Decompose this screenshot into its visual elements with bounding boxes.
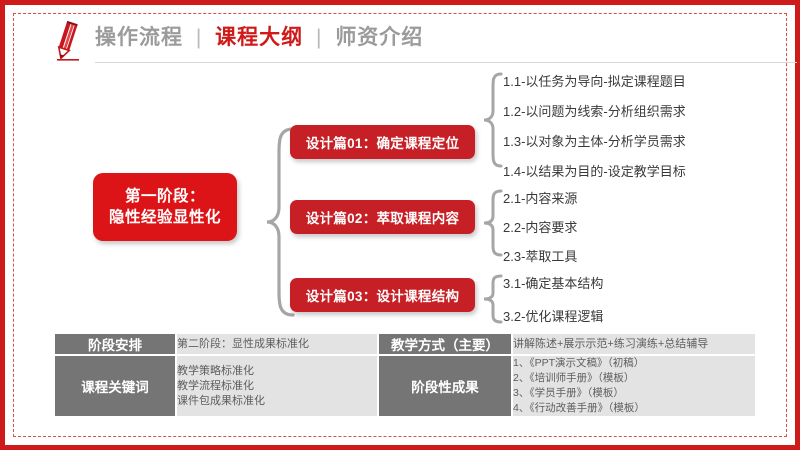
branch-node-2-label: 设计篇02：萃取课程内容 bbox=[306, 207, 460, 227]
table-row: 阶段安排 第二阶段：显性成果标准化 教学方式（主要） 讲解陈述+展示示范+练习演… bbox=[55, 334, 755, 354]
branch-node-1[interactable]: 设计篇01：确定课程定位 bbox=[290, 125, 475, 159]
leaf-item: 1.3-以对象为主体-分析学员需求 bbox=[503, 135, 686, 149]
cell-stage-arrangement-value: 第二阶段：显性成果标准化 bbox=[177, 334, 377, 354]
root-node-line2: 隐性经验显性化 bbox=[109, 207, 221, 228]
leaf-item: 2.3-萃取工具 bbox=[503, 250, 577, 264]
summary-table: 阶段安排 第二阶段：显性成果标准化 教学方式（主要） 讲解陈述+展示示范+练习演… bbox=[53, 332, 757, 418]
slide-canvas: 操作流程 | 课程大纲 | 师资介绍 第一阶段： 隐性经验显性化 设计篇01：确… bbox=[0, 0, 800, 450]
leaf-item: 2.2-内容要求 bbox=[503, 221, 577, 235]
leaf-item: 1.1-以任务为导向-拟定课程题目 bbox=[503, 75, 686, 89]
branch-1-brace bbox=[479, 71, 505, 169]
keyword-line: 教学流程标准化 bbox=[177, 379, 377, 394]
branch-1-leaf-list: 1.1-以任务为导向-拟定课程题目 1.2-以问题为线索-分析组织需求 1.3-… bbox=[503, 75, 686, 195]
cell-stage-outcome-value: 1、《PPT演示文稿》（初稿） 2、《培训师手册》（模板） 3、《学员手册》（模… bbox=[513, 356, 755, 416]
leaf-item: 2.1-内容来源 bbox=[503, 192, 577, 206]
leaf-item: 1.4-以结果为目的-设定教学目标 bbox=[503, 165, 686, 179]
outcome-line: 4、《行动改善手册》（模板） bbox=[513, 401, 755, 416]
leaf-item: 3.1-确定基本结构 bbox=[503, 277, 603, 291]
cell-teaching-method-value: 讲解陈述+展示示范+练习演练+总结辅导 bbox=[513, 334, 755, 354]
nav-separator-2: | bbox=[316, 26, 322, 49]
root-node[interactable]: 第一阶段： 隐性经验显性化 bbox=[93, 173, 237, 241]
branch-2-brace bbox=[479, 188, 505, 258]
outcome-line: 1、《PPT演示文稿》（初稿） bbox=[513, 356, 755, 371]
nav-item-operation-flow[interactable]: 操作流程 bbox=[95, 26, 183, 49]
cell-course-keywords-label: 课程关键词 bbox=[55, 356, 175, 416]
cell-course-keywords-value: 教学策略标准化 教学流程标准化 课件包成果标准化 bbox=[177, 356, 377, 416]
branch-node-2[interactable]: 设计篇02：萃取课程内容 bbox=[290, 200, 475, 234]
pencil-icon bbox=[49, 19, 83, 63]
cell-stage-arrangement-label: 阶段安排 bbox=[55, 334, 175, 354]
branch-node-3-label: 设计篇03：设计课程结构 bbox=[306, 285, 460, 305]
root-node-line1: 第一阶段： bbox=[125, 186, 205, 207]
branch-node-3[interactable]: 设计篇03：设计课程结构 bbox=[290, 278, 475, 312]
outcome-line: 2、《培训师手册》（模板） bbox=[513, 371, 755, 386]
nav-item-faculty-intro[interactable]: 师资介绍 bbox=[335, 26, 423, 49]
nav-item-course-outline[interactable]: 课程大纲 bbox=[215, 26, 303, 49]
branch-3-brace bbox=[479, 273, 505, 325]
keyword-line: 教学策略标准化 bbox=[177, 364, 377, 379]
nav-separator-1: | bbox=[196, 26, 202, 49]
nav-breadcrumb: 操作流程 | 课程大纲 | 师资介绍 bbox=[95, 21, 423, 55]
cell-teaching-method-label: 教学方式（主要） bbox=[379, 334, 511, 354]
leaf-item: 1.2-以问题为线索-分析组织需求 bbox=[503, 105, 686, 119]
left-brace-connector bbox=[243, 123, 295, 321]
branch-node-1-label: 设计篇01：确定课程定位 bbox=[306, 132, 460, 152]
header-divider bbox=[95, 62, 797, 63]
table-row: 课程关键词 教学策略标准化 教学流程标准化 课件包成果标准化 阶段性成果 1、《… bbox=[55, 356, 755, 416]
header: 操作流程 | 课程大纲 | 师资介绍 bbox=[27, 15, 787, 63]
outcome-line: 3、《学员手册》（模板） bbox=[513, 386, 755, 401]
leaf-item: 3.2-优化课程逻辑 bbox=[503, 310, 603, 324]
keyword-line: 课件包成果标准化 bbox=[177, 394, 377, 409]
cell-stage-outcome-label: 阶段性成果 bbox=[379, 356, 511, 416]
branch-2-leaf-list: 2.1-内容来源 2.2-内容要求 2.3-萃取工具 bbox=[503, 192, 577, 279]
